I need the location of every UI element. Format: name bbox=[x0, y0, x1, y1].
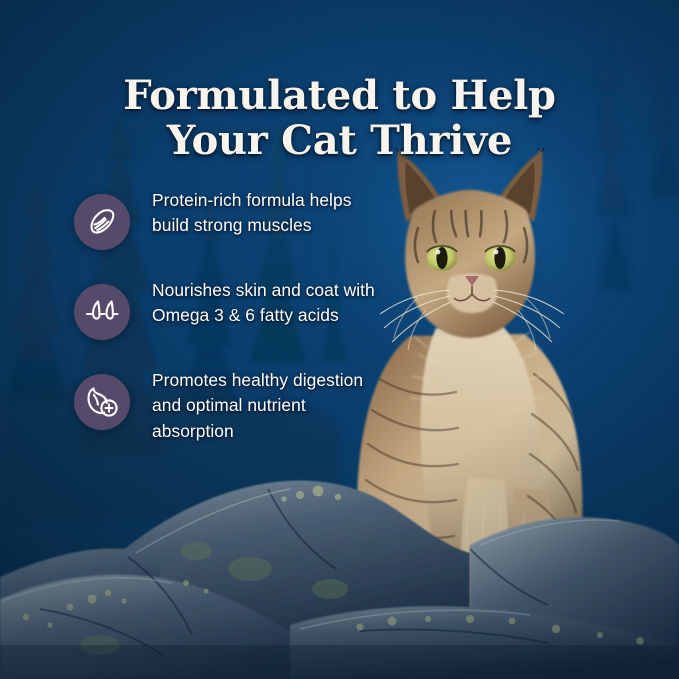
benefit-icon-badge bbox=[74, 374, 130, 430]
benefit-item: Nourishes skin and coat with Omega 3 & 6… bbox=[74, 276, 384, 340]
headline-line-1: Formulated to Help bbox=[0, 73, 679, 119]
headline-line-2: Your Cat Thrive bbox=[0, 118, 679, 164]
benefits-list: Protein-rich formula helps build strong … bbox=[74, 186, 384, 444]
page-title: Formulated to Help Your Cat Thrive bbox=[0, 73, 679, 164]
benefit-item: Protein-rich formula helps build strong … bbox=[74, 186, 384, 250]
benefit-icon-badge bbox=[74, 284, 130, 340]
benefit-text: Protein-rich formula helps build strong … bbox=[152, 186, 384, 239]
stomach-plus-icon bbox=[84, 385, 120, 419]
benefit-icon-badge bbox=[74, 194, 130, 250]
muscle-icon bbox=[85, 205, 119, 239]
benefit-text: Nourishes skin and coat with Omega 3 & 6… bbox=[152, 276, 384, 329]
benefit-text: Promotes healthy digestion and optimal n… bbox=[152, 366, 384, 444]
benefit-item: Promotes healthy digestion and optimal n… bbox=[74, 366, 384, 444]
hair-follicle-icon bbox=[84, 295, 120, 329]
promo-banner: Formulated to Help Your Cat Thrive Prote… bbox=[0, 0, 679, 679]
